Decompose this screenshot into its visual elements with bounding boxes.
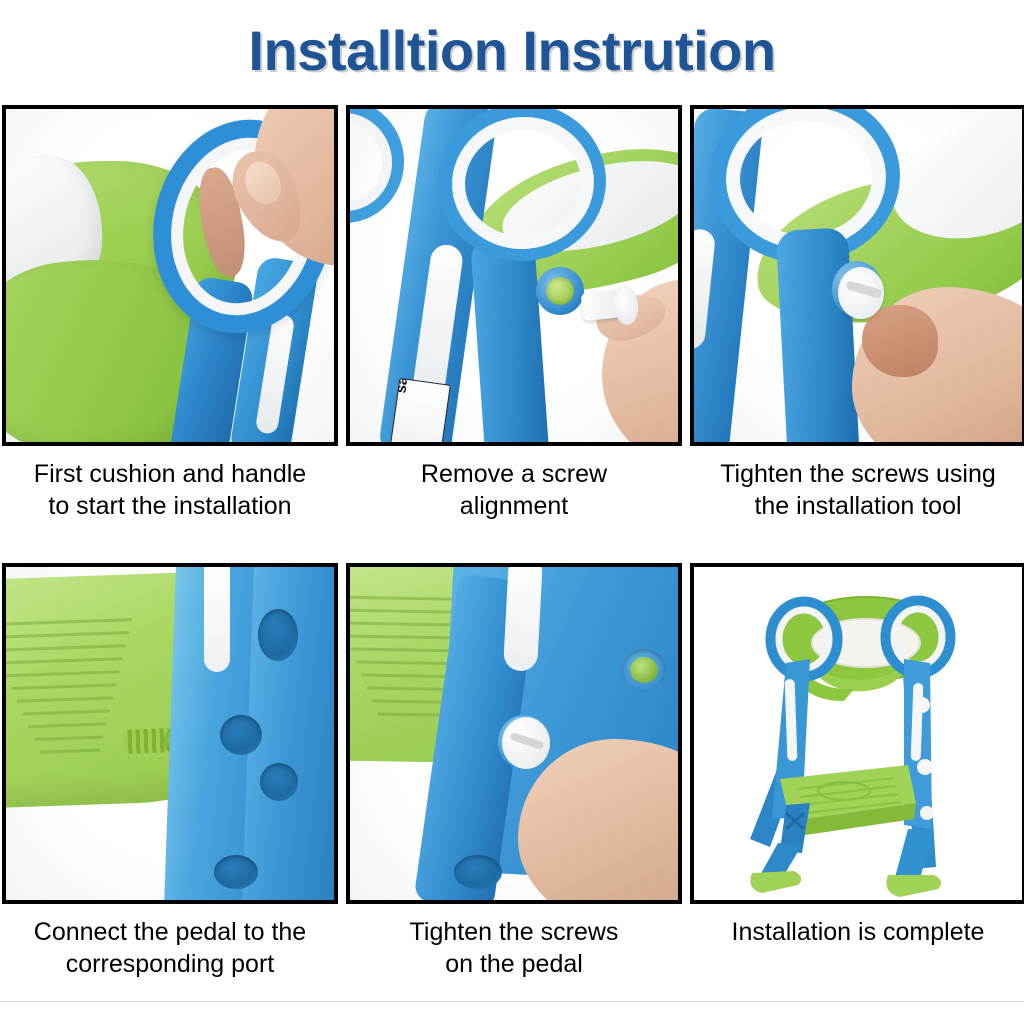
mounting-hole-icon: [454, 855, 502, 889]
white-slot-shape: [204, 567, 230, 672]
installation-instruction-page: Installtion Instrution: [0, 0, 1024, 1024]
step-caption-3: Tighten the screws using the installatio…: [690, 458, 1024, 522]
step-caption-6: Installation is complete: [690, 916, 1024, 980]
green-port-icon: [630, 657, 658, 683]
step-photo-4: [2, 563, 338, 904]
photo-panels-bottom: [0, 563, 1024, 904]
step-caption-2-line2: alignment: [350, 490, 678, 522]
step-photo-5: [346, 563, 682, 904]
step-caption-3-line2: the installation tool: [694, 490, 1022, 522]
step-caption-2: Remove a screw alignment: [346, 458, 682, 522]
step-caption-2-line1: Remove a screw: [350, 458, 678, 490]
step-caption-5-line2: on the pedal: [350, 948, 678, 980]
step-caption-1-line1: First cushion and handle: [6, 458, 334, 490]
mounting-hole-icon: [258, 609, 298, 661]
page-header: Installtion Instrution: [0, 0, 1024, 100]
step-caption-6-line1: Installation is complete: [694, 916, 1022, 948]
photo-assembled-product: [694, 567, 1022, 900]
captions-top: First cushion and handle to start the in…: [0, 458, 1024, 522]
green-knob-shape: [546, 277, 574, 305]
step-caption-4-line1: Connect the pedal to the: [6, 916, 334, 948]
step-photo-6: [690, 563, 1024, 904]
blue-arm-shape: [776, 227, 860, 442]
step-caption-4: Connect the pedal to the corresponding p…: [2, 916, 338, 980]
mounting-hole-icon: [260, 763, 298, 801]
white-slot-shape: [503, 567, 543, 672]
photo-panels-top: sarim Your Life Perfect: [0, 105, 1024, 446]
step-caption-4-line2: corresponding port: [6, 948, 334, 980]
brand-label: sarim Your Life Perfect: [389, 378, 451, 442]
steps-row-top: sarim Your Life Perfect: [0, 105, 1024, 522]
step-caption-3-line1: Tighten the screws using: [694, 458, 1022, 490]
step-photo-2: sarim Your Life Perfect: [346, 105, 682, 446]
step-photo-3: [690, 105, 1024, 446]
step-caption-1: First cushion and handle to start the in…: [2, 458, 338, 522]
assembled-product-illustration: [694, 567, 1022, 900]
step-caption-5: Tighten the screws on the pedal: [346, 916, 682, 980]
photo-tighten-pedal-screw: [350, 567, 678, 900]
step-caption-5-line1: Tighten the screws: [350, 916, 678, 948]
mounting-hole-icon: [214, 855, 258, 889]
photo-connect-pedal: [6, 567, 334, 900]
mounting-hole-icon: [220, 715, 262, 755]
steps-row-bottom: Connect the pedal to the corresponding p…: [0, 563, 1024, 980]
step-caption-1-line2: to start the installation: [6, 490, 334, 522]
captions-bottom: Connect the pedal to the corresponding p…: [0, 916, 1024, 980]
footer-divider: [0, 1001, 1024, 1002]
photo-remove-screw: sarim Your Life Perfect: [350, 109, 678, 442]
step-photo-1: [2, 105, 338, 446]
photo-tighten-handle-screw: [694, 109, 1022, 442]
photo-cushion-and-handle: [6, 109, 334, 442]
knuckle-shape: [862, 305, 938, 377]
page-title: Installtion Instrution: [248, 18, 775, 83]
